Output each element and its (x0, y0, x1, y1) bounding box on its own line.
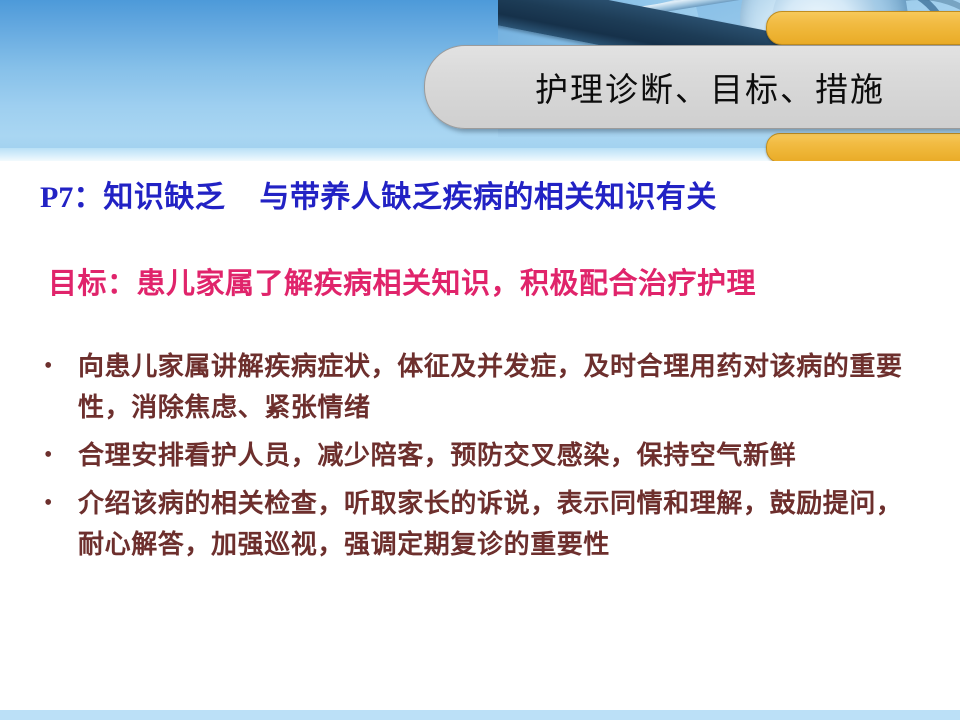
list-item-text: 合理安排看护人员，减少陪客，预防交叉感染，保持空气新鲜 (78, 435, 926, 476)
goal-heading: 目标：患儿家属了解疾病相关知识，积极配合治疗护理 (48, 264, 953, 304)
measures-list: • 向患儿家属讲解疾病症状，体征及并发症，及时合理用药对该病的重要性，消除焦虑、… (34, 346, 934, 572)
footer-strip (0, 710, 960, 720)
accent-bar-bottom (766, 133, 960, 163)
list-item: • 向患儿家属讲解疾病症状，体征及并发症，及时合理用药对该病的重要性，消除焦虑、… (34, 346, 934, 428)
slide-body: P7：知识缺乏与带养人缺乏疾病的相关知识有关 目标：患儿家属了解疾病相关知识，积… (0, 161, 960, 710)
list-item: • 合理安排看护人员，减少陪客，预防交叉感染，保持空气新鲜 (34, 435, 934, 476)
list-item: • 介绍该病的相关检查，听取家长的诉说，表示同情和理解，鼓励提问，耐心解答，加强… (34, 483, 934, 565)
title-plate: 护理诊断、目标、措施 (424, 45, 960, 129)
bullet-icon: • (34, 435, 78, 476)
bullet-icon: • (34, 346, 78, 387)
diagnosis-relation: 与带养人缺乏疾病的相关知识有关 (259, 181, 717, 214)
accent-bar-top (766, 11, 960, 45)
bullet-icon: • (34, 483, 78, 524)
diagnosis-heading: P7：知识缺乏与带养人缺乏疾病的相关知识有关 (40, 175, 940, 220)
list-item-text: 介绍该病的相关检查，听取家长的诉说，表示同情和理解，鼓励提问，耐心解答，加强巡视… (78, 483, 926, 565)
diagnosis-label: P7： (40, 181, 103, 214)
page-title: 护理诊断、目标、措施 (483, 63, 919, 111)
slide: 护理诊断、目标、措施 P7：知识缺乏与带养人缺乏疾病的相关知识有关 目标：患儿家… (0, 0, 960, 720)
diagnosis-term: 知识缺乏 (103, 181, 225, 214)
list-item-text: 向患儿家属讲解疾病症状，体征及并发症，及时合理用药对该病的重要性，消除焦虑、紧张… (78, 346, 926, 428)
